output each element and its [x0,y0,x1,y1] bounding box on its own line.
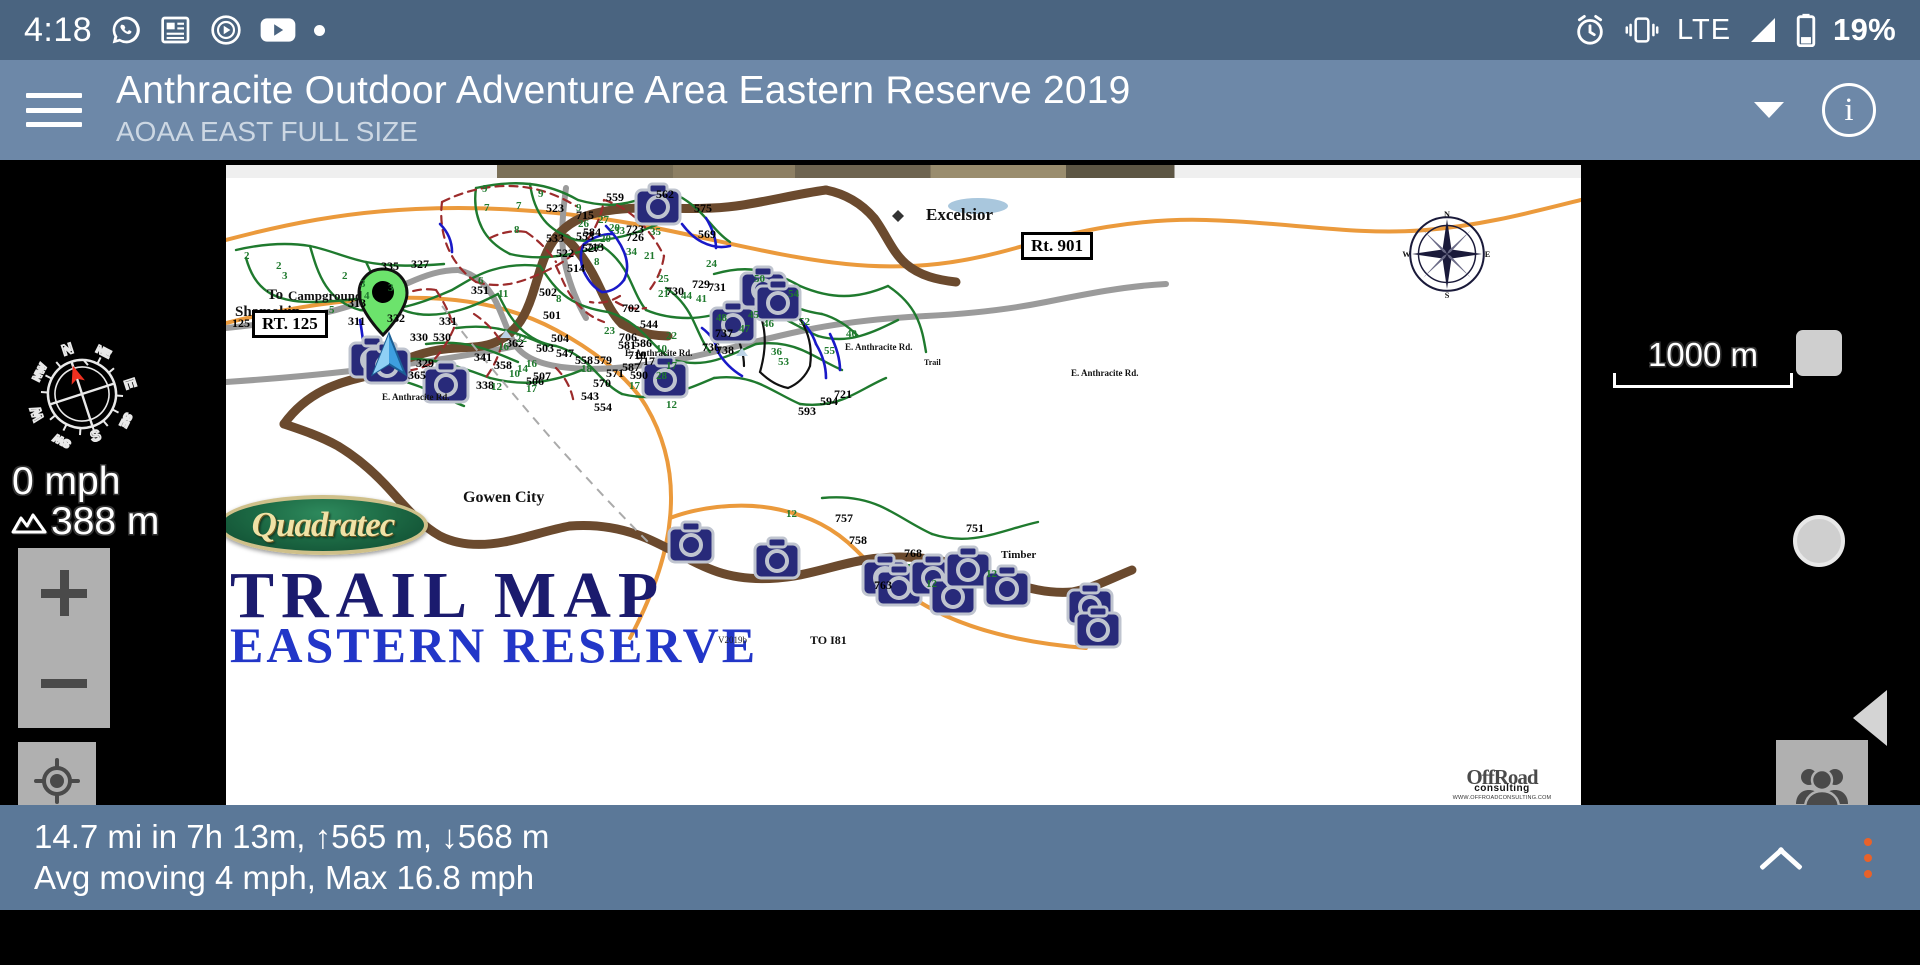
youtube-icon [260,17,296,43]
news-icon [160,15,192,45]
svg-text:N: N [1444,210,1450,219]
svg-text:N: N [60,340,76,360]
offroad-logo-line1: OffRoad [1466,768,1537,787]
map-scale-bar: 1000 m [1613,338,1793,388]
camera-waypoint-icon[interactable] [983,564,1031,608]
map-subtitle: EASTERN RESERVE [230,620,758,670]
camera-waypoint-icon[interactable] [641,355,689,399]
triangle-left-icon[interactable] [1853,690,1887,746]
info-icon[interactable]: i [1822,83,1876,137]
map-canvas[interactable]: N S E W [226,165,1581,805]
vibrate-icon [1623,16,1661,44]
svg-text:SW: SW [51,431,73,450]
camera-waypoint-icon[interactable] [709,300,757,344]
page-title: Anthracite Outdoor Adventure Area Easter… [116,71,1131,112]
bottom-stats-bar: 14.7 mi in 7h 13m, ↑565 m, ↓568 m Avg mo… [0,805,1920,910]
svg-text:S: S [88,427,103,446]
stats-line-1: 14.7 mi in 7h 13m, ↑565 m, ↓568 m [34,820,549,855]
chevron-up-icon[interactable] [1758,844,1804,872]
camera-waypoint-icon[interactable] [422,360,470,404]
app-bar: Anthracite Outdoor Adventure Area Easter… [0,60,1920,160]
minus-icon [41,679,87,688]
svg-text:E: E [120,376,139,391]
gps-crosshair-icon [32,756,82,806]
map-compass-rose-icon: N S E W [1401,208,1493,300]
track-stats: 14.7 mi in 7h 13m, ↑565 m, ↓568 m Avg mo… [34,820,549,895]
overflow-dot [1864,854,1872,862]
map-route-shield: Rt. 901 [1021,232,1093,260]
play-circle-icon [210,14,242,46]
elevation-value: 388 m [51,500,159,544]
dot-indicator-icon [314,25,325,36]
plus-icon-v [60,570,69,616]
chevron-down-icon[interactable] [1754,102,1784,118]
svg-text:NW: NW [31,361,50,383]
page-subtitle: AOAA EAST FULL SIZE [116,114,1131,149]
map-scale-line [1613,373,1793,388]
battery-icon [1795,13,1817,47]
quadratec-logo: Quadratec [226,495,428,555]
compass-rose-icon[interactable]: N NE E SE S SW W NW [12,332,152,462]
svg-text:W: W [1402,250,1411,259]
bottom-bar-actions [1758,838,1886,878]
whatsapp-icon [110,14,142,46]
speed-readout: 0 mph [12,460,120,504]
signal-icon [1747,15,1779,45]
overflow-dot [1864,838,1872,846]
status-bar-right: LTE 19% [1573,12,1896,48]
map-area[interactable]: N S E W [0,160,1920,805]
app-bar-actions: i [1754,83,1894,137]
map-photo-strip [226,165,1581,178]
camera-waypoint-icon[interactable] [634,182,682,226]
map-trail-graphics [226,178,1581,805]
mountain-icon [10,506,48,538]
overflow-dot [1864,870,1872,878]
quadratec-logo-text: Quadratec [252,505,395,545]
title-block: Anthracite Outdoor Adventure Area Easter… [116,71,1131,150]
svg-text:W: W [27,404,48,424]
status-bar: 4:18 [0,0,1920,60]
people-icon [1793,762,1851,810]
offroad-consulting-logo: OffRoad consulting WWW.OFFROADCONSULTING… [1437,761,1567,801]
map-layers-button[interactable] [1796,330,1842,376]
record-button[interactable] [1793,515,1845,567]
stats-line-2: Avg moving 4 mph, Max 16.8 mph [34,861,549,896]
battery-percentage: 19% [1833,12,1896,48]
svg-text:E: E [1485,250,1491,259]
status-bar-left: 4:18 [24,11,325,50]
hamburger-icon[interactable] [26,87,82,133]
map-route-shield: RT. 125 [252,310,328,338]
map-version-tag: V2019b [718,635,747,645]
svg-text:SE: SE [117,411,134,430]
offroad-logo-url: WWW.OFFROADCONSULTING.COM [1453,795,1552,801]
zoom-out-button[interactable] [18,638,110,728]
svg-text:S: S [1445,291,1450,300]
more-vertical-icon[interactable] [1864,838,1872,878]
location-pin-icon[interactable] [357,267,409,337]
svg-text:NE: NE [94,343,113,361]
alarm-icon [1573,13,1607,47]
camera-waypoint-icon[interactable] [753,536,801,580]
elevation-readout: 388 m [10,500,159,544]
zoom-in-button[interactable] [18,548,110,638]
map-scale-label: 1000 m [1613,338,1793,371]
network-type: LTE [1677,14,1731,47]
camera-waypoint-icon[interactable] [754,278,802,322]
camera-waypoint-icon[interactable] [1074,605,1122,649]
navigation-arrow-icon [363,330,415,382]
status-clock: 4:18 [24,11,92,50]
camera-waypoint-icon[interactable] [667,520,715,564]
